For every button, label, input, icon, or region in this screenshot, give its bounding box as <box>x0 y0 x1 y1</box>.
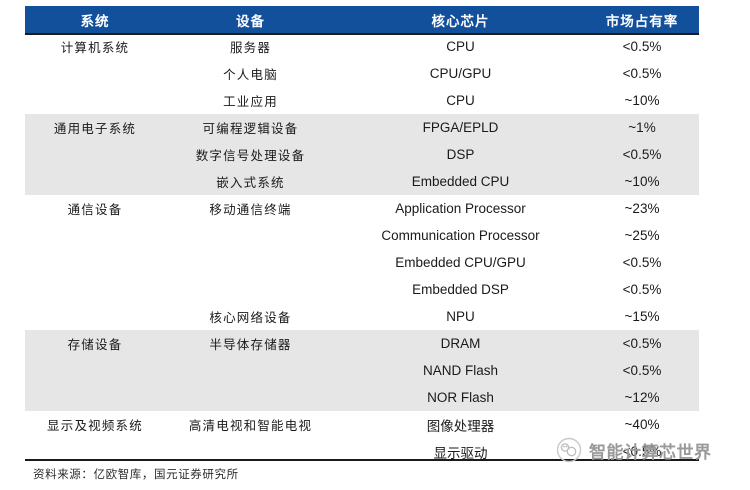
cell-device: 服务器 <box>165 33 336 60</box>
cell-market-share: <0.5% <box>585 33 699 60</box>
table-row: 嵌入式系统Embedded CPU~10% <box>25 168 699 195</box>
table-row: Embedded DSP<0.5% <box>25 276 699 303</box>
cell-system <box>25 87 165 114</box>
cell-system <box>25 222 165 249</box>
cell-device: 半导体存储器 <box>165 330 336 357</box>
cell-system: 显示及视频系统 <box>25 411 165 438</box>
cell-chip: FPGA/EPLD <box>336 114 585 141</box>
column-header-market-share: 市场占有率 <box>585 6 699 33</box>
cell-device <box>165 357 336 384</box>
cell-market-share: <0.5% <box>585 249 699 276</box>
cell-system <box>25 249 165 276</box>
table-row: 个人电脑CPU/GPU<0.5% <box>25 60 699 87</box>
cell-market-share: ~1% <box>585 114 699 141</box>
cell-market-share: ~10% <box>585 87 699 114</box>
table-row: Embedded CPU/GPU<0.5% <box>25 249 699 276</box>
cell-chip: Embedded DSP <box>336 276 585 303</box>
header-bottom-rule <box>25 33 699 35</box>
cell-system <box>25 276 165 303</box>
table-row: Communication Processor~25% <box>25 222 699 249</box>
cell-market-share: ~25% <box>585 222 699 249</box>
cell-market-share: <0.5% <box>585 330 699 357</box>
cell-market-share: <0.5% <box>585 60 699 87</box>
table-row: 存储设备半导体存储器DRAM<0.5% <box>25 330 699 357</box>
cell-system: 计算机系统 <box>25 33 165 60</box>
cell-chip: 显示驱动 <box>336 438 585 465</box>
cell-device: 个人电脑 <box>165 60 336 87</box>
cell-device: 工业应用 <box>165 87 336 114</box>
cell-chip: Embedded CPU/GPU <box>336 249 585 276</box>
table-bottom-rule <box>25 459 699 461</box>
cell-chip: Communication Processor <box>336 222 585 249</box>
table-row: 显示及视频系统高清电视和智能电视图像处理器~40% <box>25 411 699 438</box>
cell-system <box>25 384 165 411</box>
cell-market-share: ~40% <box>585 411 699 438</box>
cell-market-share: ~12% <box>585 384 699 411</box>
cell-chip: CPU <box>336 33 585 60</box>
cell-market-share: ~15% <box>585 303 699 330</box>
table-row: 通用电子系统可编程逻辑设备FPGA/EPLD~1% <box>25 114 699 141</box>
cell-chip: NPU <box>336 303 585 330</box>
cell-system <box>25 141 165 168</box>
column-header-system: 系统 <box>25 6 165 33</box>
cell-device <box>165 276 336 303</box>
chip-market-table: 系统 设备 核心芯片 市场占有率 计算机系统服务器CPU<0.5%个人电脑CPU… <box>25 6 699 465</box>
cell-device: 数字信号处理设备 <box>165 141 336 168</box>
cell-chip: CPU <box>336 87 585 114</box>
cell-market-share: <0.5% <box>585 141 699 168</box>
cell-device: 可编程逻辑设备 <box>165 114 336 141</box>
source-note: 资料来源：亿欧智库，国元证券研究所 <box>33 466 239 482</box>
table-row: 工业应用CPU~10% <box>25 87 699 114</box>
cell-market-share: <0.5% <box>585 357 699 384</box>
table-header-row: 系统 设备 核心芯片 市场占有率 <box>25 6 699 33</box>
cell-chip: Embedded CPU <box>336 168 585 195</box>
cell-market-share: <0.5% <box>585 276 699 303</box>
table-row: 数字信号处理设备DSP<0.5% <box>25 141 699 168</box>
column-header-chip: 核心芯片 <box>336 6 585 33</box>
cell-market-share: <0.5% <box>585 438 699 465</box>
cell-device <box>165 222 336 249</box>
cell-chip: CPU/GPU <box>336 60 585 87</box>
table-header: 系统 设备 核心芯片 市场占有率 <box>25 6 699 33</box>
cell-device: 移动通信终端 <box>165 195 336 222</box>
cell-chip: NOR Flash <box>336 384 585 411</box>
cell-system: 通信设备 <box>25 195 165 222</box>
column-header-device: 设备 <box>165 6 336 33</box>
table-body: 计算机系统服务器CPU<0.5%个人电脑CPU/GPU<0.5%工业应用CPU~… <box>25 33 699 465</box>
cell-chip: NAND Flash <box>336 357 585 384</box>
cell-device <box>165 438 336 465</box>
table-row: 计算机系统服务器CPU<0.5% <box>25 33 699 60</box>
table-row: NOR Flash~12% <box>25 384 699 411</box>
cell-market-share: ~10% <box>585 168 699 195</box>
cell-chip: DSP <box>336 141 585 168</box>
cell-device: 高清电视和智能电视 <box>165 411 336 438</box>
cell-system: 通用电子系统 <box>25 114 165 141</box>
cell-system <box>25 60 165 87</box>
cell-system <box>25 357 165 384</box>
cell-device <box>165 384 336 411</box>
cell-device: 嵌入式系统 <box>165 168 336 195</box>
table-row: 通信设备移动通信终端Application Processor~23% <box>25 195 699 222</box>
table-row: 显示驱动<0.5% <box>25 438 699 465</box>
cell-chip: 图像处理器 <box>336 411 585 438</box>
cell-system <box>25 438 165 465</box>
cell-system: 存储设备 <box>25 330 165 357</box>
cell-system <box>25 168 165 195</box>
chip-market-table-container: 系统 设备 核心芯片 市场占有率 计算机系统服务器CPU<0.5%个人电脑CPU… <box>25 6 699 465</box>
table-row: 核心网络设备NPU~15% <box>25 303 699 330</box>
cell-device <box>165 249 336 276</box>
cell-device: 核心网络设备 <box>165 303 336 330</box>
cell-market-share: ~23% <box>585 195 699 222</box>
cell-chip: Application Processor <box>336 195 585 222</box>
table-row: NAND Flash<0.5% <box>25 357 699 384</box>
cell-chip: DRAM <box>336 330 585 357</box>
cell-system <box>25 303 165 330</box>
